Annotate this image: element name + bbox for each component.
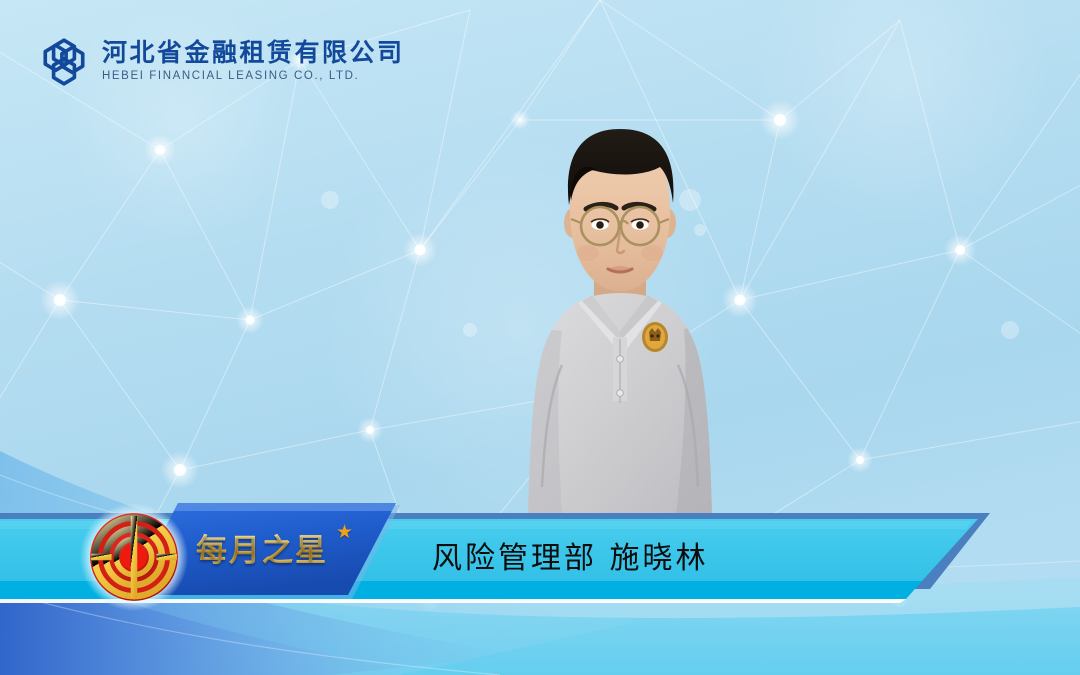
company-logo: 河北省金融租赁有限公司 HEBEI FINANCIAL LEASING CO.,… [38,36,405,88]
portrait-illustration [470,115,770,515]
person-portrait [470,115,770,515]
star-icon: ★ [336,521,353,544]
chest-emblem-icon [642,322,668,352]
company-logo-text: 河北省金融租赁有限公司 HEBEI FINANCIAL LEASING CO.,… [102,39,405,86]
all-china-federation-of-trade-unions-emblem-icon [78,501,190,613]
company-name-en: HEBEI FINANCIAL LEASING CO., LTD. [102,68,405,85]
hexagon-interlock-logo-icon [38,36,90,88]
lower-third-banner: 每月之星 ★ 风险管理部 施晓林 [0,503,1080,613]
person-title: 风险管理部 施晓林 [432,533,709,577]
slide-stage: 河北省金融租赁有限公司 HEBEI FINANCIAL LEASING CO.,… [0,0,1080,675]
company-name-cn: 河北省金融租赁有限公司 [102,39,405,67]
award-label: 每月之星 [196,525,328,570]
